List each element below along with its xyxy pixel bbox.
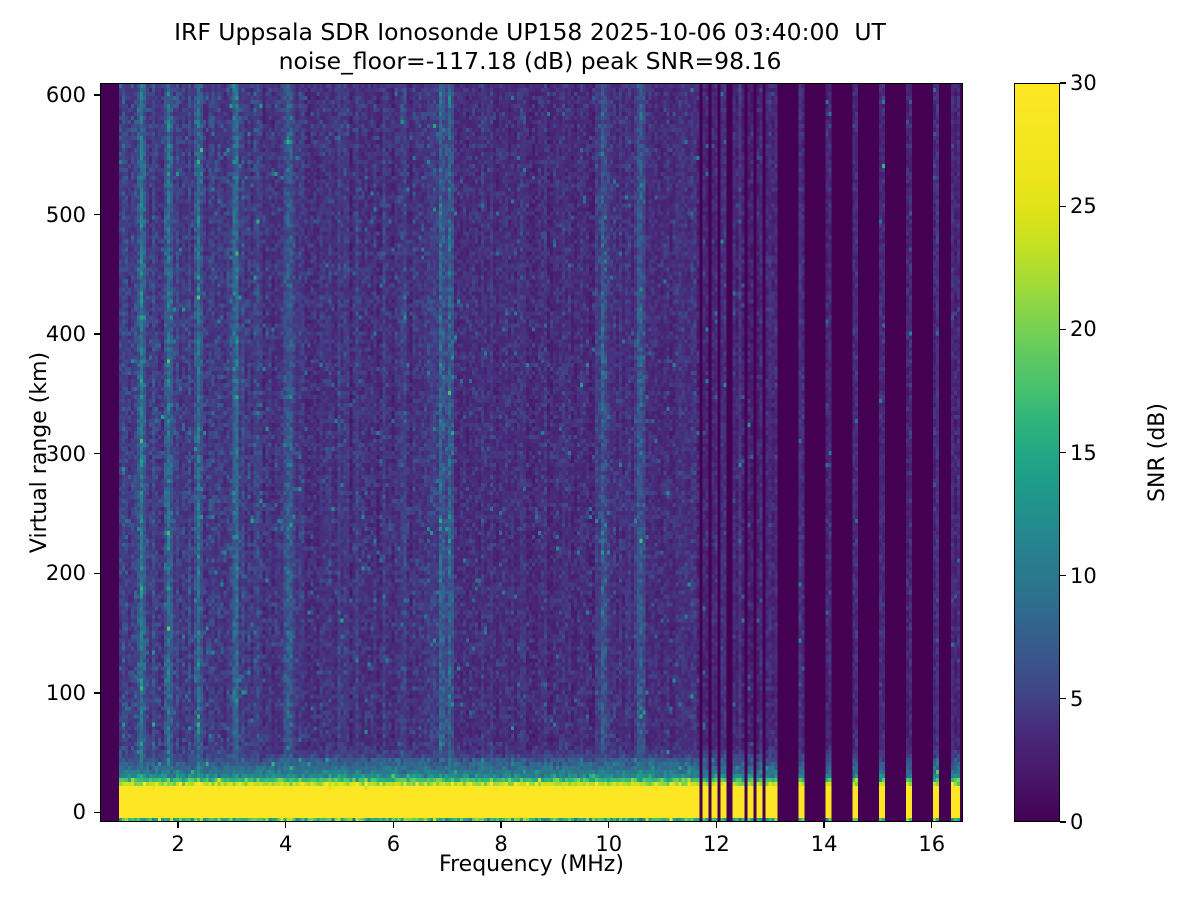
colorbar-tick-label: 30 — [1070, 71, 1097, 95]
colorbar-tick-label: 10 — [1070, 564, 1097, 588]
ionogram-plot-area — [100, 83, 963, 822]
colorbar-tick-mark — [1060, 452, 1066, 453]
x-tick-mark — [608, 822, 609, 828]
colorbar-tick-mark — [1060, 329, 1066, 330]
x-tick-mark — [285, 822, 286, 828]
colorbar-tick-mark — [1060, 698, 1066, 699]
x-tick-mark — [177, 822, 178, 828]
x-tick-mark — [931, 822, 932, 828]
y-tick-mark — [94, 692, 100, 693]
colorbar-tick-label: 25 — [1070, 194, 1097, 218]
figure-title: IRF Uppsala SDR Ionosonde UP158 2025-10-… — [0, 18, 1060, 75]
colorbar-tick-mark — [1060, 82, 1066, 83]
title-line-2: noise_floor=-117.18 (dB) peak SNR=98.16 — [0, 47, 1060, 76]
colorbar-tick-mark — [1060, 821, 1066, 822]
ionogram-heatmap — [101, 84, 962, 821]
colorbar-tick-label: 15 — [1070, 441, 1097, 465]
x-tick-mark — [716, 822, 717, 828]
colorbar-tick-label: 20 — [1070, 317, 1097, 341]
ionogram-figure: IRF Uppsala SDR Ionosonde UP158 2025-10-… — [0, 0, 1200, 900]
y-tick-mark — [94, 812, 100, 813]
colorbar-tick-mark — [1060, 575, 1066, 576]
colorbar-label: SNR (dB) — [1145, 83, 1170, 822]
y-tick-mark — [94, 94, 100, 95]
x-tick-mark — [393, 822, 394, 828]
x-axis-label: Frequency (MHz) — [100, 852, 963, 877]
y-tick-mark — [94, 453, 100, 454]
colorbar-tick-label: 5 — [1070, 687, 1083, 711]
title-line-1: IRF Uppsala SDR Ionosonde UP158 2025-10-… — [0, 18, 1060, 47]
y-tick-mark — [94, 214, 100, 215]
colorbar-tick-label: 0 — [1070, 810, 1083, 834]
x-tick-mark — [823, 822, 824, 828]
snr-colorbar — [1014, 83, 1060, 822]
y-tick-mark — [94, 333, 100, 334]
colorbar-tick-mark — [1060, 206, 1066, 207]
x-tick-mark — [500, 822, 501, 828]
y-axis-label: Virtual range (km) — [27, 83, 52, 822]
y-tick-mark — [94, 573, 100, 574]
